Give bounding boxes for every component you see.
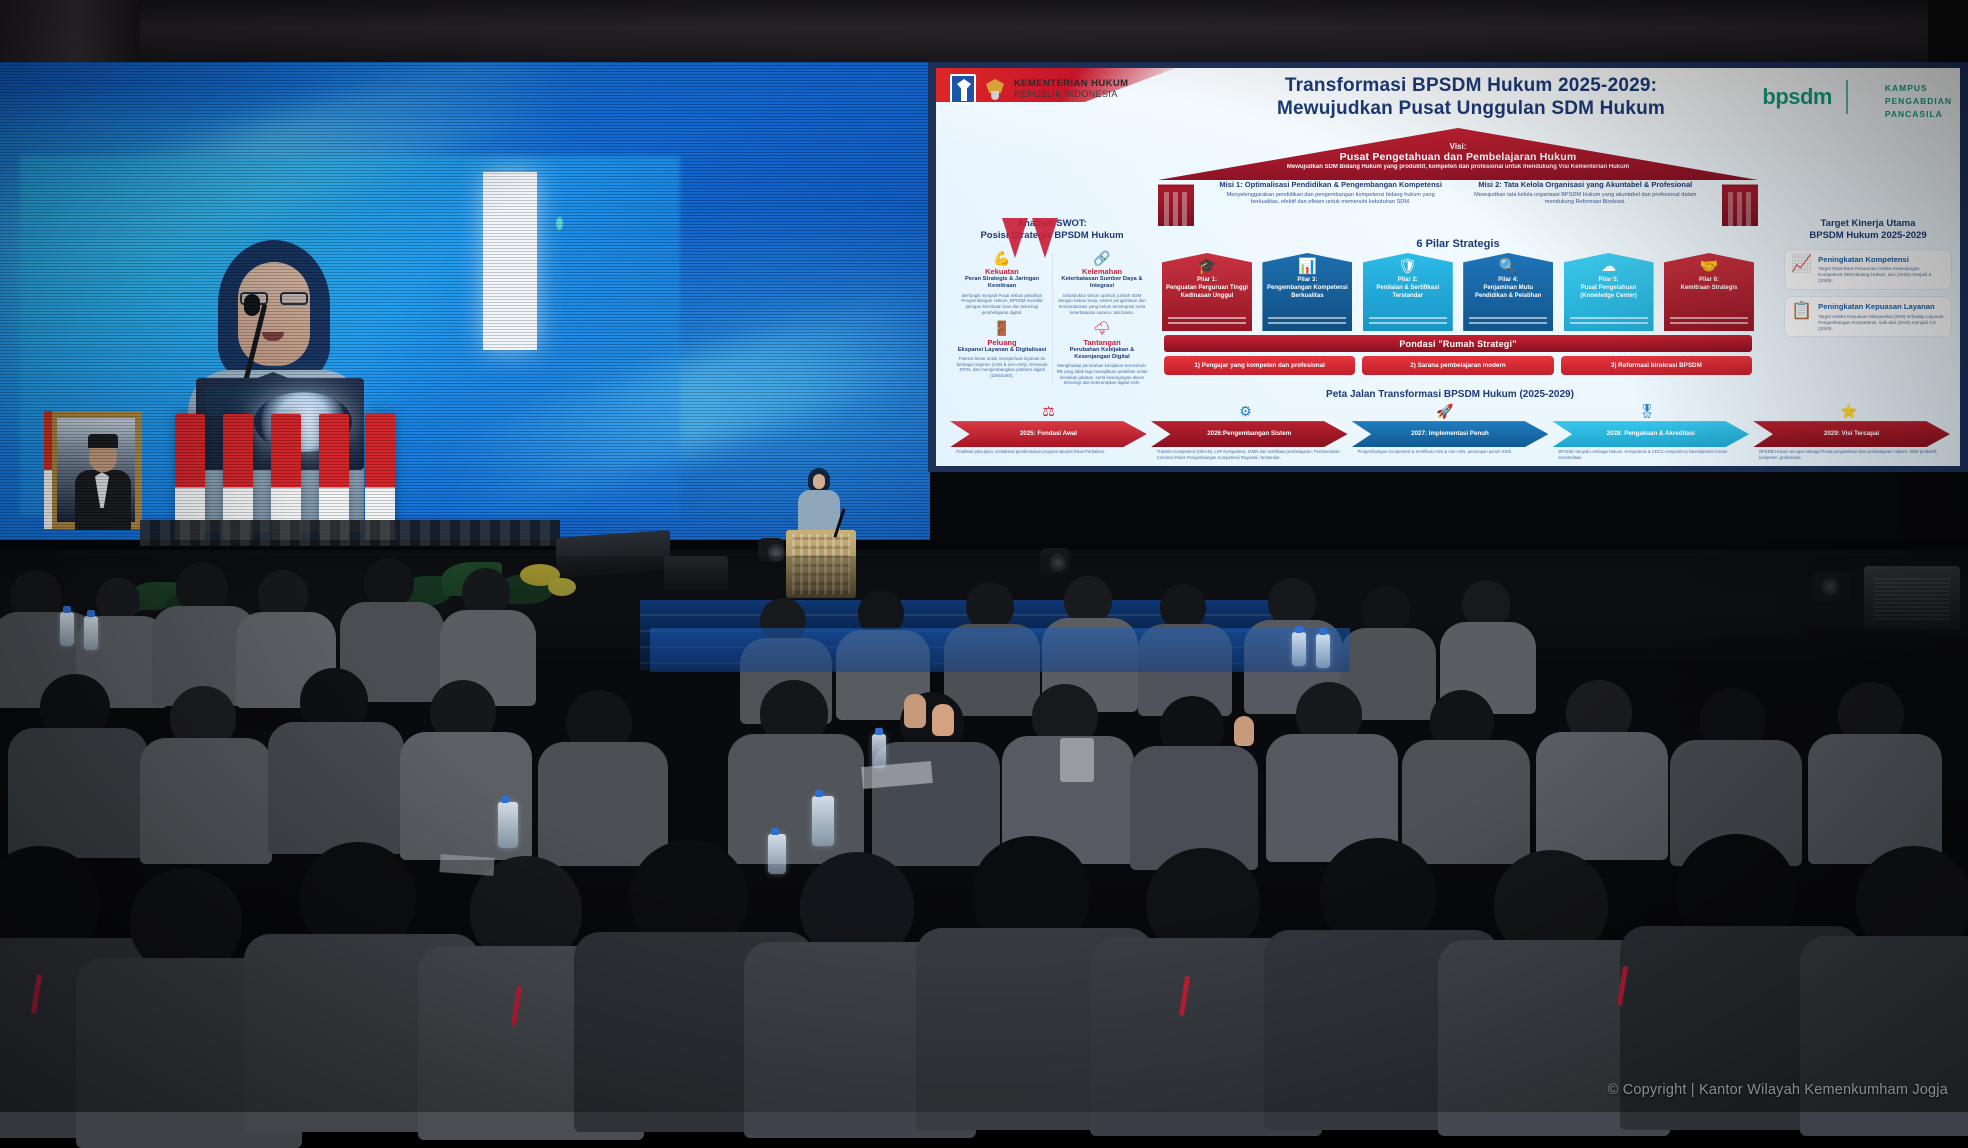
visi-detail: Mewujudkan SDM Bidang Hukum yang produkt…	[1158, 163, 1758, 172]
slide-title: Transformasi BPSDM Hukum 2025-2029: Mewu…	[1236, 74, 1706, 120]
water-bottle	[768, 834, 786, 874]
audience-head	[462, 568, 510, 616]
slide-header: KEMENTERIAN HUKUM REPUBLIK INDONESIA Tra…	[936, 68, 1960, 126]
roadmap-note-2028: BPSDM menjadi Lembaga Hukum, Kompetensi …	[1552, 449, 1749, 460]
ministry-line-1: KEMENTERIAN HUKUM	[1014, 78, 1128, 89]
swot-strengths-subtitle: Peran Strategis & Jaringan Kemitraan	[956, 276, 1048, 290]
raised-hand	[1234, 716, 1254, 746]
audience-head	[1268, 578, 1316, 626]
bar-chart-gear-icon: 📊	[1262, 259, 1352, 274]
foundation-item-3: 3) Reformasi birokrasi BPSDM	[1561, 356, 1752, 375]
document-paper	[439, 854, 494, 876]
pillar-ridges	[1168, 317, 1246, 327]
open-door-icon: 🚪	[956, 321, 1048, 336]
copyright-text: © Copyright | Kantor Wilayah Kemenkumham…	[1608, 1082, 1948, 1098]
swot-threats-subtitle: Perubahan Kebijakan & Kesenjangan Digita…	[1056, 347, 1148, 361]
pillar-ridges	[1469, 317, 1547, 327]
audience-head	[364, 558, 414, 608]
microphone-icon	[244, 294, 260, 316]
ministry-line-2: REPUBLIK INDONESIA	[1014, 89, 1128, 100]
audience-torso	[538, 742, 668, 866]
target-1-detail: Target Rata-Rata Penurunan Indeks Kesenj…	[1818, 266, 1945, 284]
pillar-ridges	[1268, 317, 1346, 327]
audience-torso	[140, 738, 272, 864]
logo-divider	[1846, 80, 1848, 114]
foundation-row: 1) Pengajar yang kompeten dan profesiona…	[1158, 352, 1758, 375]
swot-strengths-title: Kekuatan	[956, 267, 1048, 276]
brand-tagline: KAMPUS PENGABDIAN PANCASILA	[1885, 82, 1952, 120]
pillars-heading: 6 Pilar Strategis	[1158, 238, 1758, 250]
pillar-2-label: Pilar 2: Penilaian & Sertifikasi Terstan…	[1363, 277, 1453, 300]
ministry-logo-block: KEMENTERIAN HUKUM REPUBLIK INDONESIA	[950, 74, 1128, 104]
garuda-icon	[983, 76, 1007, 102]
target-heading: Target Kinerja Utama BPSDM Hukum 2025-20…	[1784, 218, 1952, 243]
water-bottle	[1316, 634, 1330, 668]
swot-threats: 🌩 Tantangan Perubahan Kebijakan & Kesenj…	[1054, 319, 1150, 388]
mission-row: Misi 1: Optimalisasi Pendidikan & Pengem…	[1158, 180, 1758, 236]
cloud-database-icon: ☁	[1564, 259, 1654, 274]
swot-center-arrows	[1002, 218, 1066, 262]
column-icon	[1158, 180, 1194, 226]
target-card-satisfaction: 📋 Peningkatan Kepuasan Layanan Target In…	[1784, 296, 1952, 337]
stage-truss	[140, 520, 560, 546]
handshake-globe-icon: 🤝	[1664, 259, 1754, 274]
portrait-cap	[88, 434, 118, 448]
visi-headline: Pusat Pengetahuan dan Pembelajaran Hukum	[1158, 151, 1758, 163]
document-search-icon: 🔍	[1463, 259, 1553, 274]
roadmap-notes: Finalisasi peta jalan, revitalisasi pemb…	[950, 449, 1950, 460]
pillar-4: 🔍 Pilar 4: Penjaminan Mutu Pendidikan & …	[1463, 253, 1553, 331]
mission-1-detail: Menyelenggarakan pendidikan dan pengemba…	[1213, 192, 1449, 207]
swot-threats-detail: Menghadapi perubahan kebijakan Kemenhuk-…	[1056, 363, 1148, 386]
audience-torso	[1800, 936, 1968, 1136]
audience-torso	[1402, 740, 1530, 864]
water-bottle	[812, 796, 834, 846]
raised-hand	[904, 694, 926, 728]
star-goal-icon: ⭐	[1840, 403, 1857, 420]
vision-pediment: Visi: Pusat Pengetahuan dan Pembelajaran…	[1158, 128, 1758, 180]
column-icon	[1722, 180, 1758, 226]
bpsdm-logo: bpsdm	[1762, 84, 1832, 110]
audience-seating	[0, 556, 1968, 1112]
water-bottle	[872, 734, 886, 768]
audience-head	[1462, 580, 1510, 628]
roadmap-note-2025: Finalisasi peta jalan, revitalisasi pemb…	[950, 449, 1147, 460]
audience-head	[966, 582, 1014, 630]
audience-torso	[728, 734, 864, 864]
conference-hall-photo: KEMENTERIAN HUKUM REPUBLIK INDONESIA Tra…	[0, 0, 1968, 1112]
roadmap-step-2025: 2025: Fondasi Awal	[950, 421, 1147, 447]
roadmap-step-2027: 2027: Implementasi Penuh	[1352, 421, 1549, 447]
audience-head	[1064, 576, 1112, 624]
pillar-1-label: Pilar 1: Penguatan Perguruan Tinggi Kedi…	[1162, 277, 1252, 300]
indonesian-flag-strip	[44, 411, 52, 529]
pillar-6-label: Pilar 6: Kemitraan Strategis	[1664, 277, 1754, 293]
pillar-ridges	[1570, 317, 1648, 327]
target-2-title: Peningkatan Kepuasan Layanan	[1818, 302, 1945, 311]
roadmap-step-2029: 2029: Visi Tercapai	[1753, 421, 1950, 447]
swot-opportunities-detail: Potensi besar untuk memperluas layanan k…	[956, 356, 1048, 379]
roadmap-chevrons: 2025: Fondasi Awal 2026:Pengembangan Sis…	[950, 421, 1950, 447]
mission-2-detail: Mewujudkan tata kelola organisasi BPSDM …	[1467, 192, 1703, 207]
roadmap-note-2026: Transfer Kompetensi (ISKAN), LSP Kompete…	[1151, 449, 1348, 460]
seat-row-strip	[650, 628, 1350, 672]
raised-hand	[932, 704, 954, 736]
growth-bar-chart-icon: 📈	[1791, 255, 1812, 284]
mission-2-title: Misi 2: Tata Kelola Organisasi yang Akun…	[1467, 180, 1703, 190]
foundation-item-1: 1) Pengajar yang kompeten dan profesiona…	[1164, 356, 1355, 375]
swot-weaknesses-detail: Infrastruktur belum optimal, jumlah SDM …	[1056, 293, 1148, 316]
pillar-5: ☁ Pilar 5: Pusat Pengetahuan (Knowledge …	[1564, 253, 1654, 331]
swot-weaknesses: 🔗 Kelemahan Keterbatasan Sumber Daya & I…	[1054, 249, 1150, 318]
roadmap-heading: Peta Jalan Transformasi BPSDM Hukum (202…	[950, 389, 1950, 400]
swot-weaknesses-subtitle: Keterbatasan Sumber Daya & Integrasi	[1056, 276, 1148, 290]
strategy-house-diagram: Visi: Pusat Pengetahuan dan Pembelajaran…	[1158, 128, 1758, 375]
white-graphic-bar	[483, 172, 537, 350]
green-indicator-dot	[556, 217, 563, 230]
rocket-icon: 🚀	[1436, 403, 1453, 420]
pillar-3-label: Pilar 3: Pengembangan Kompetensi Berkual…	[1262, 277, 1352, 300]
pillar-4-label: Pilar 4: Penjaminan Mutu Pendidikan & Pe…	[1463, 277, 1553, 300]
target-2-detail: Target Indeks Kepuasan Masyarakat (IKM) …	[1818, 314, 1945, 332]
audience-head	[1362, 586, 1410, 634]
swot-threats-title: Tantangan	[1056, 338, 1148, 347]
audience-torso	[1536, 732, 1668, 860]
pillar-ridges	[1670, 317, 1748, 327]
swot-opportunities-subtitle: Ekspansi Layanan & Digitalisasi	[956, 347, 1048, 354]
water-bottle	[498, 802, 518, 848]
pillars-row: 🎓 Pilar 1: Penguatan Perguruan Tinggi Ke…	[1158, 253, 1758, 331]
broken-chain-icon: 🔗	[1056, 251, 1148, 266]
presentation-slide: KEMENTERIAN HUKUM REPUBLIK INDONESIA Tra…	[936, 68, 1960, 466]
swot-strengths-detail: Berfungsi menjadi Pusat Inklusi pelatiha…	[956, 293, 1048, 316]
water-bottle	[84, 616, 98, 650]
gavel-icon: ⚖	[1042, 403, 1055, 420]
foundation-heading: Pondasi "Rumah Strategi"	[1164, 335, 1752, 352]
swot-opportunities-title: Peluang	[956, 338, 1048, 347]
storm-cloud-icon: 🌩	[1056, 321, 1148, 336]
roadmap-step-2026: 2026:Pengembangan Sistem	[1151, 421, 1348, 447]
swot-weaknesses-title: Kelemahan	[1056, 267, 1148, 276]
pillar-2: 🛡 Pilar 2: Penilaian & Sertifikasi Terst…	[1363, 253, 1453, 331]
graduation-building-icon: 🎓	[1162, 259, 1252, 274]
water-bottle	[60, 612, 74, 646]
kemenkum-logo-icon	[950, 74, 976, 104]
roadmap-note-2027: Pengembangan Kompetensi & Sertifikasi AS…	[1352, 449, 1549, 460]
speaker-face	[813, 474, 825, 489]
audience-torso	[8, 728, 148, 858]
pillar-3: 📊 Pilar 3: Pengembangan Kompetensi Berku…	[1262, 253, 1352, 331]
mission-1: Misi 1: Optimalisasi Pendidikan & Pengem…	[1213, 180, 1449, 206]
badge-icon: 🎖	[1638, 403, 1656, 420]
right-ceiling-shadow	[1928, 0, 1968, 70]
pillar-1: 🎓 Pilar 1: Penguatan Perguruan Tinggi Ke…	[1162, 253, 1252, 331]
target-kinerja: Target Kinerja Utama BPSDM Hukum 2025-20…	[1784, 218, 1952, 343]
foundation-item-2: 2) Sarana pembelajaran modern	[1362, 356, 1553, 375]
document-paper	[1060, 738, 1094, 782]
roadmap-icons: ⚖ ⚙ 🚀 🎖 ⭐	[950, 403, 1950, 420]
roadmap-section: Peta Jalan Transformasi BPSDM Hukum (202…	[950, 389, 1950, 460]
visi-label: Visi:	[1158, 142, 1758, 151]
audience-torso	[1808, 734, 1942, 864]
ceiling	[0, 0, 1968, 70]
audience-torso	[872, 742, 1000, 866]
water-bottle	[1292, 632, 1306, 666]
pillar-ridges	[1369, 317, 1447, 327]
roadmap-note-2029: BPSDM Hukum tercapai sebagai Pusat penge…	[1753, 449, 1950, 460]
roadmap-step-2028: 2028: Pengakuan & Akreditasi	[1552, 421, 1749, 447]
target-card-competency: 📈 Peningkatan Kompetensi Target Rata-Rat…	[1784, 249, 1952, 290]
target-1-title: Peningkatan Kompetensi	[1818, 255, 1945, 264]
speaker-at-podium	[796, 468, 842, 538]
shield-check-icon: 🛡	[1363, 259, 1453, 274]
network-icon: ⚙	[1239, 403, 1252, 420]
presidential-portrait	[50, 411, 142, 529]
pillar-5-label: Pilar 5: Pusat Pengetahuan (Knowledge Ce…	[1564, 277, 1654, 300]
mission-2: Misi 2: Tata Kelola Organisasi yang Akun…	[1467, 180, 1703, 206]
pillar-6: 🤝 Pilar 6: Kemitraan Strategis	[1664, 253, 1754, 331]
mission-1-title: Misi 1: Optimalisasi Pendidikan & Pengem…	[1213, 180, 1449, 190]
swot-opportunities: 🚪 Peluang Ekspansi Layanan & Digitalisas…	[954, 319, 1050, 388]
audience-torso	[268, 722, 404, 854]
checklist-smiley-icon: 📋	[1791, 302, 1812, 331]
